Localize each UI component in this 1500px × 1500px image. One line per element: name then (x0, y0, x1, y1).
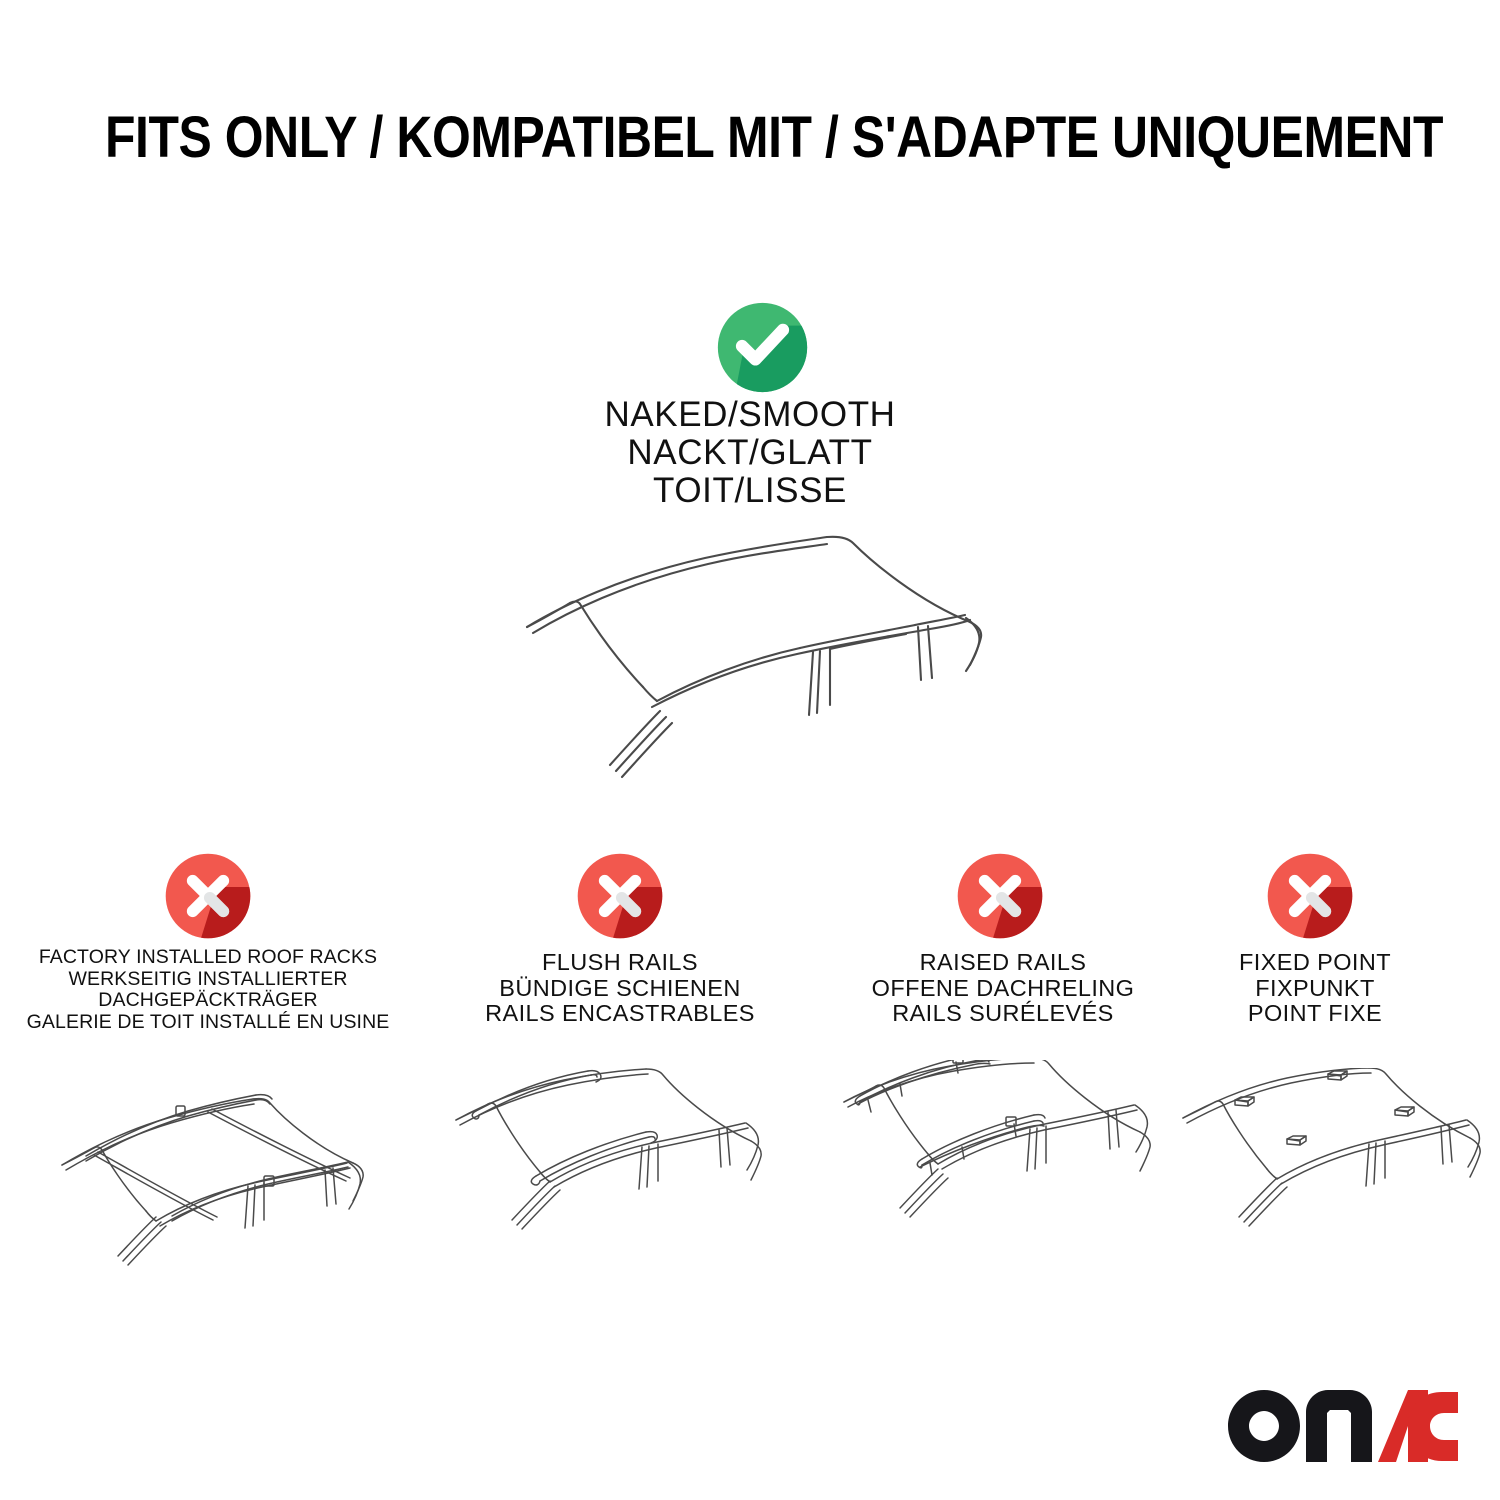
x-circle-icon-fixed-point (1265, 851, 1355, 941)
compatible-caption-line-1: NAKED/SMOOTH (450, 396, 1050, 434)
x-circle-icon-factory-racks (163, 851, 253, 941)
omac-logo (1228, 1390, 1458, 1462)
naked-smooth-roof-illustration (500, 515, 1020, 790)
compatible-caption-line-2: NACKT/GLATT (450, 434, 1050, 472)
logo-letter-o (1228, 1390, 1300, 1462)
flush-rails-illustration (446, 1068, 846, 1268)
caption-flush-rails-line-1: FLUSH RAILS (430, 950, 810, 976)
page-title: FITS ONLY / KOMPATIBEL MIT / S'ADAPTE UN… (105, 106, 1395, 170)
compatible-caption: NAKED/SMOOTH NACKT/GLATT TOIT/LISSE (450, 396, 1050, 510)
check-circle-icon (715, 300, 810, 395)
caption-flush-rails: FLUSH RAILS BÜNDIGE SCHIENEN RAILS ENCAS… (430, 950, 810, 1027)
caption-fixed-point-line-3: POINT FIXE (1130, 1001, 1500, 1027)
logo-letter-m (1306, 1390, 1372, 1462)
x-circle-icon-flush-rails (575, 851, 665, 941)
caption-factory-racks-line-4: GALERIE DE TOIT INSTALLÉ EN USINE (8, 1012, 408, 1034)
caption-fixed-point-line-2: FIXPUNKT (1130, 976, 1500, 1002)
factory-roof-rack-illustration (48, 1068, 448, 1268)
fixed-point-illustration (1175, 1068, 1500, 1268)
x-circle-icon-raised-rails (955, 851, 1045, 941)
caption-fixed-point-line-1: FIXED POINT (1130, 950, 1500, 976)
caption-factory-racks-line-2: WERKSEITIG INSTALLIERTER (8, 969, 408, 991)
caption-factory-racks-line-3: DACHGEPÄCKTRÄGER (8, 990, 408, 1012)
caption-factory-racks: FACTORY INSTALLED ROOF RACKS WERKSEITIG … (8, 947, 408, 1033)
compatible-caption-line-3: TOIT/LISSE (450, 472, 1050, 510)
caption-fixed-point: FIXED POINT FIXPUNKT POINT FIXE (1130, 950, 1500, 1027)
caption-flush-rails-line-3: RAILS ENCASTRABLES (430, 1001, 810, 1027)
caption-factory-racks-line-1: FACTORY INSTALLED ROOF RACKS (8, 947, 408, 969)
caption-flush-rails-line-2: BÜNDIGE SCHIENEN (430, 976, 810, 1002)
